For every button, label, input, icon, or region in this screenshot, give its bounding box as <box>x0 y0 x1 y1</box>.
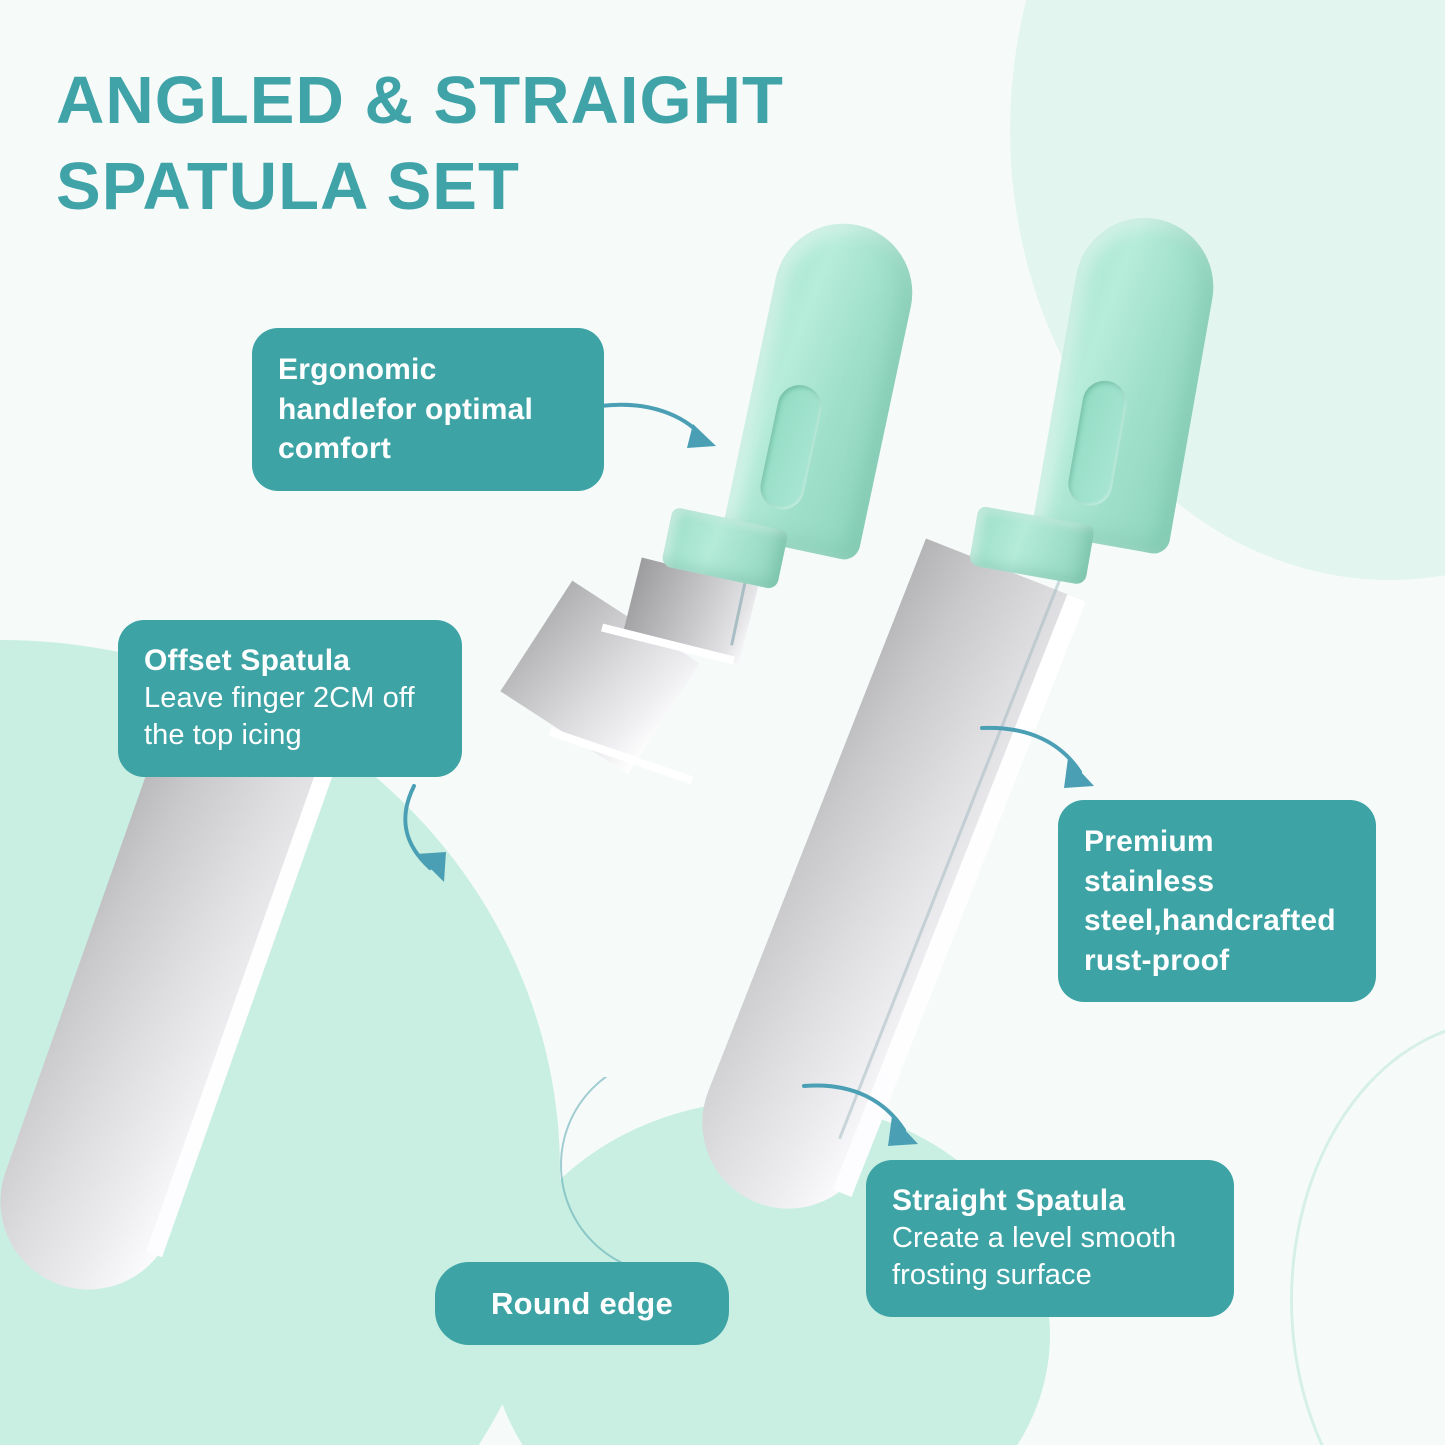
left-spatula-handle <box>722 211 926 562</box>
callout-straight-text: Create a level smooth frosting surface <box>892 1220 1208 1295</box>
callout-round-edge-text: Round edge <box>461 1288 703 1319</box>
right-handle-groove <box>1065 377 1130 509</box>
arrow-to-straight-callout-icon <box>800 1072 932 1172</box>
arrow-to-offset-bend-icon <box>392 782 512 902</box>
callout-straight-title: Straight Spatula <box>892 1182 1208 1220</box>
callout-straight-spatula: Straight Spatula Create a level smooth f… <box>866 1160 1234 1317</box>
callout-offset-text: Leave finger 2CM off the top icing <box>144 680 436 755</box>
background-ellipse-outline-bottom-right <box>1290 1020 1445 1445</box>
arrow-to-handle-icon <box>598 388 738 468</box>
callout-round-edge: Round edge <box>435 1262 729 1345</box>
callout-offset-spatula: Offset Spatula Leave finger 2CM off the … <box>118 620 462 777</box>
callout-premium-steel: Premium stainless steel,handcrafted rust… <box>1058 800 1376 1002</box>
left-handle-groove <box>756 381 825 513</box>
arrow-to-premium-callout-icon <box>978 716 1110 808</box>
infographic-canvas: ANGLED & STRAIGHT SPATULA SET <box>0 0 1445 1445</box>
page-title-line-1: ANGLED & STRAIGHT <box>56 58 956 144</box>
callout-ergonomic-handle: Ergonomic handlefor optimal comfort <box>252 328 604 491</box>
page-title: ANGLED & STRAIGHT SPATULA SET <box>56 58 956 230</box>
callout-ergonomic-text: Ergonomic handlefor optimal comfort <box>278 350 578 469</box>
callout-premium-text: Premium stainless steel,handcrafted rust… <box>1084 822 1350 980</box>
callout-offset-title: Offset Spatula <box>144 642 436 680</box>
page-title-line-2: SPATULA SET <box>56 144 956 230</box>
